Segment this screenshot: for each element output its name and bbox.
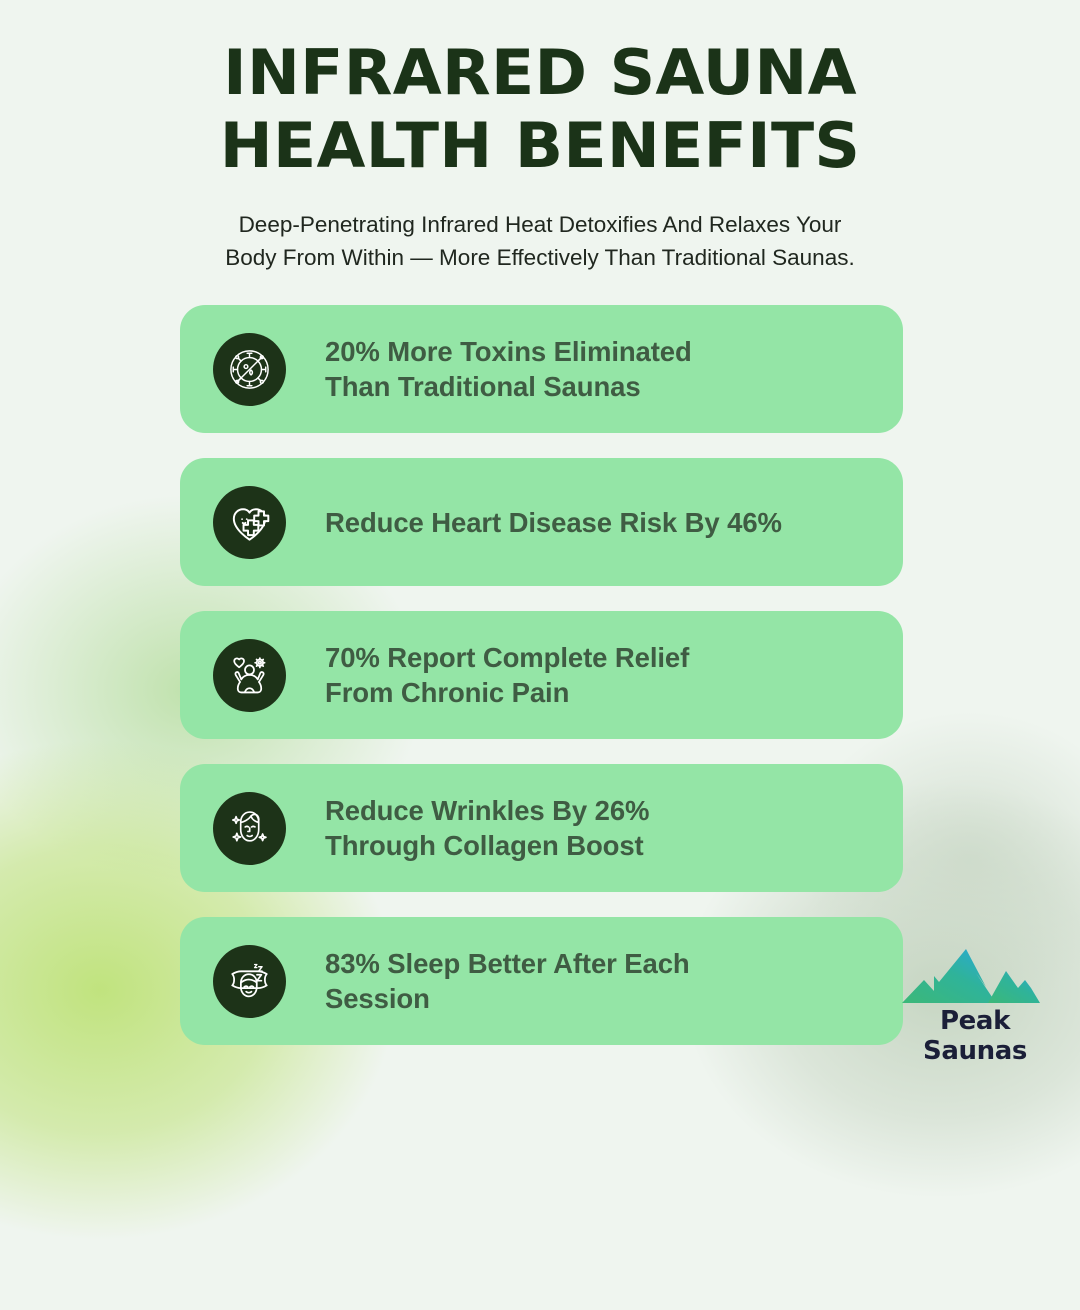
benefit-line-2: From Chronic Pain	[325, 675, 689, 710]
benefit-card-text: 20% More Toxins Eliminated Than Traditio…	[325, 334, 692, 404]
benefit-line-1: 83% Sleep Better After Each	[325, 946, 690, 981]
benefit-line-2: Session	[325, 981, 690, 1016]
page-subtitle-line-2: Body From Within — More Effectively Than…	[150, 242, 930, 275]
benefit-line-1: 70% Report Complete Relief	[325, 640, 689, 675]
benefit-card-chronic-pain[interactable]: 70% Report Complete Relief From Chronic …	[180, 611, 903, 739]
meditating-person-icon	[213, 639, 286, 712]
benefit-line-1: 20% More Toxins Eliminated	[325, 334, 692, 369]
brand-name: Peak Saunas	[892, 1006, 1058, 1066]
mountain-icon	[900, 947, 1050, 1005]
page-subtitle-line-1: Deep-Penetrating Infrared Heat Detoxifie…	[150, 209, 930, 242]
benefit-card-wrinkles[interactable]: Reduce Wrinkles By 26% Through Collagen …	[180, 764, 903, 892]
virus-blocked-icon	[213, 333, 286, 406]
brand-logo[interactable]: Peak Saunas	[892, 947, 1058, 1066]
glowing-face-icon	[213, 792, 286, 865]
header: INFRARED SAUNA HEALTH BENEFITS Deep-Pene…	[0, 0, 1080, 274]
benefit-line-1: Reduce Wrinkles By 26%	[325, 793, 649, 828]
page-subtitle: Deep-Penetrating Infrared Heat Detoxifie…	[150, 209, 930, 274]
benefit-card-heart-disease[interactable]: Reduce Heart Disease Risk By 46%	[180, 458, 903, 586]
benefit-card-text: 70% Report Complete Relief From Chronic …	[325, 640, 689, 710]
benefit-card-sleep[interactable]: 83% Sleep Better After Each Session	[180, 917, 903, 1045]
benefit-line-2: Through Collagen Boost	[325, 828, 649, 863]
benefit-card-toxins[interactable]: 20% More Toxins Eliminated Than Traditio…	[180, 305, 903, 433]
benefits-list: 20% More Toxins Eliminated Than Traditio…	[0, 305, 1080, 1045]
benefit-card-text: Reduce Wrinkles By 26% Through Collagen …	[325, 793, 649, 863]
benefit-line-2: Than Traditional Saunas	[325, 369, 692, 404]
heart-medical-cross-icon	[213, 486, 286, 559]
benefit-card-text: 83% Sleep Better After Each Session	[325, 946, 690, 1016]
benefit-line-1: Reduce Heart Disease Risk By 46%	[325, 505, 782, 540]
page-title-line-2: HEALTH BENEFITS	[0, 115, 1080, 177]
benefit-card-text: Reduce Heart Disease Risk By 46%	[325, 505, 782, 540]
infographic-page: INFRARED SAUNA HEALTH BENEFITS Deep-Pene…	[0, 0, 1080, 1080]
sleeping-face-pillow-icon	[213, 945, 286, 1018]
page-title: INFRARED SAUNA HEALTH BENEFITS	[0, 42, 1080, 177]
page-title-line-1: INFRARED SAUNA	[0, 42, 1080, 104]
